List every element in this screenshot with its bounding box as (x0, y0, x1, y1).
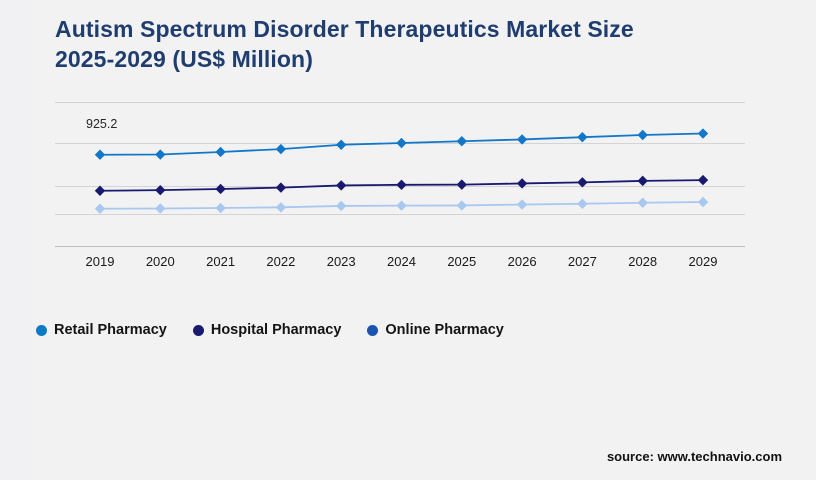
legend-label: Retail Pharmacy (54, 322, 167, 338)
data-point-marker (276, 144, 286, 154)
data-point-marker (95, 186, 105, 196)
x-axis-label: 2029 (673, 254, 733, 269)
chart-title: Autism Spectrum Disorder Therapeutics Ma… (55, 14, 755, 74)
data-point-marker (396, 138, 406, 148)
data-point-marker (215, 184, 225, 194)
legend-marker-icon (36, 325, 47, 336)
data-label-retail-2019: 925.2 (86, 117, 117, 131)
data-point-marker (457, 200, 467, 210)
legend-marker-icon (193, 325, 204, 336)
x-axis-label: 2024 (372, 254, 432, 269)
data-point-marker (276, 182, 286, 192)
x-axis-label: 2027 (552, 254, 612, 269)
data-point-marker (215, 203, 225, 213)
data-point-marker (215, 147, 225, 157)
data-point-marker (457, 179, 467, 189)
series-plot (55, 96, 745, 248)
data-point-marker (95, 204, 105, 214)
data-point-marker (517, 178, 527, 188)
legend-label: Online Pharmacy (385, 322, 503, 338)
plot-area: 925.2 (55, 96, 745, 248)
data-point-marker (155, 185, 165, 195)
source-note: source: www.technavio.com (607, 449, 782, 464)
chart-legend: Retail PharmacyHospital PharmacyOnline P… (36, 322, 504, 338)
data-point-marker (638, 176, 648, 186)
data-point-marker (638, 130, 648, 140)
x-axis-label: 2021 (191, 254, 251, 269)
data-point-marker (517, 134, 527, 144)
data-point-marker (457, 136, 467, 146)
legend-item[interactable]: Retail Pharmacy (36, 322, 167, 338)
data-point-marker (336, 201, 346, 211)
data-point-marker (95, 150, 105, 160)
x-axis-labels: 2019202020212022202320242025202620272028… (55, 254, 745, 274)
data-point-marker (336, 180, 346, 190)
x-axis-label: 2028 (613, 254, 673, 269)
data-point-marker (396, 200, 406, 210)
data-point-marker (517, 199, 527, 209)
legend-label: Hospital Pharmacy (211, 322, 342, 338)
x-axis-label: 2022 (251, 254, 311, 269)
data-point-marker (155, 203, 165, 213)
legend-item[interactable]: Online Pharmacy (367, 322, 503, 338)
data-point-marker (577, 177, 587, 187)
left-background-strip (0, 0, 32, 480)
data-point-marker (336, 140, 346, 150)
x-axis-label: 2020 (130, 254, 190, 269)
chart-title-line2: 2025-2029 (US$ Million) (55, 44, 755, 74)
x-axis-label: 2023 (311, 254, 371, 269)
x-axis-label: 2019 (70, 254, 130, 269)
data-point-marker (577, 132, 587, 142)
data-point-marker (698, 197, 708, 207)
chart-title-line1: Autism Spectrum Disorder Therapeutics Ma… (55, 16, 634, 42)
data-point-marker (396, 180, 406, 190)
data-point-marker (638, 198, 648, 208)
data-point-marker (698, 128, 708, 138)
data-point-marker (155, 149, 165, 159)
x-axis-label: 2025 (432, 254, 492, 269)
legend-marker-icon (367, 325, 378, 336)
x-axis-label: 2026 (492, 254, 552, 269)
legend-item[interactable]: Hospital Pharmacy (193, 322, 342, 338)
data-point-marker (698, 175, 708, 185)
data-point-marker (577, 199, 587, 209)
data-point-marker (276, 202, 286, 212)
